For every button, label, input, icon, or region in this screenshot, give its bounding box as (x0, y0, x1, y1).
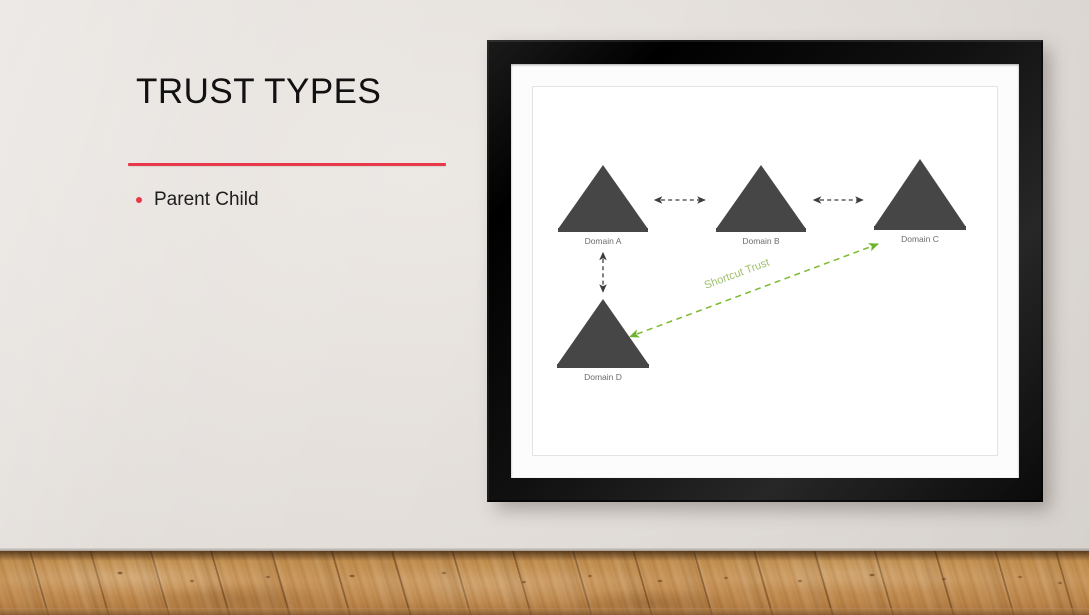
page-title: TRUST TYPES (136, 72, 381, 112)
floor-top-shadow (0, 551, 1089, 561)
diagram-node-domain-b: Domain B (716, 165, 806, 246)
shortcut-trust-link-d-c (637, 244, 878, 334)
diagram-node-domain-d: Domain D (557, 299, 649, 382)
diagram-node-domain-c: Domain C (874, 159, 966, 244)
diagram-node-label: Domain D (584, 372, 622, 382)
diagram-node-label: Domain B (742, 236, 780, 246)
presentation-slide: TRUST TYPES Parent Child (0, 0, 1089, 615)
bullet-dot-icon (136, 197, 142, 203)
picture-frame: Domain A Domain B Domain C (487, 40, 1043, 502)
list-item: Parent Child (136, 189, 259, 211)
domain-trust-diagram: Domain A Domain B Domain C (533, 87, 997, 455)
picture-mat: Domain A Domain B Domain C (511, 64, 1019, 478)
list-item-label: Parent Child (154, 189, 259, 211)
diagram-node-label: Domain A (585, 236, 622, 246)
wood-floor (0, 551, 1089, 615)
shortcut-trust-label: Shortcut Trust (703, 257, 771, 292)
diagram-canvas: Domain A Domain B Domain C (532, 86, 998, 456)
title-underline-rule (128, 163, 446, 166)
floor-bottom-edge (0, 608, 1089, 615)
diagram-node-domain-a: Domain A (558, 165, 648, 246)
diagram-node-label: Domain C (901, 234, 939, 244)
